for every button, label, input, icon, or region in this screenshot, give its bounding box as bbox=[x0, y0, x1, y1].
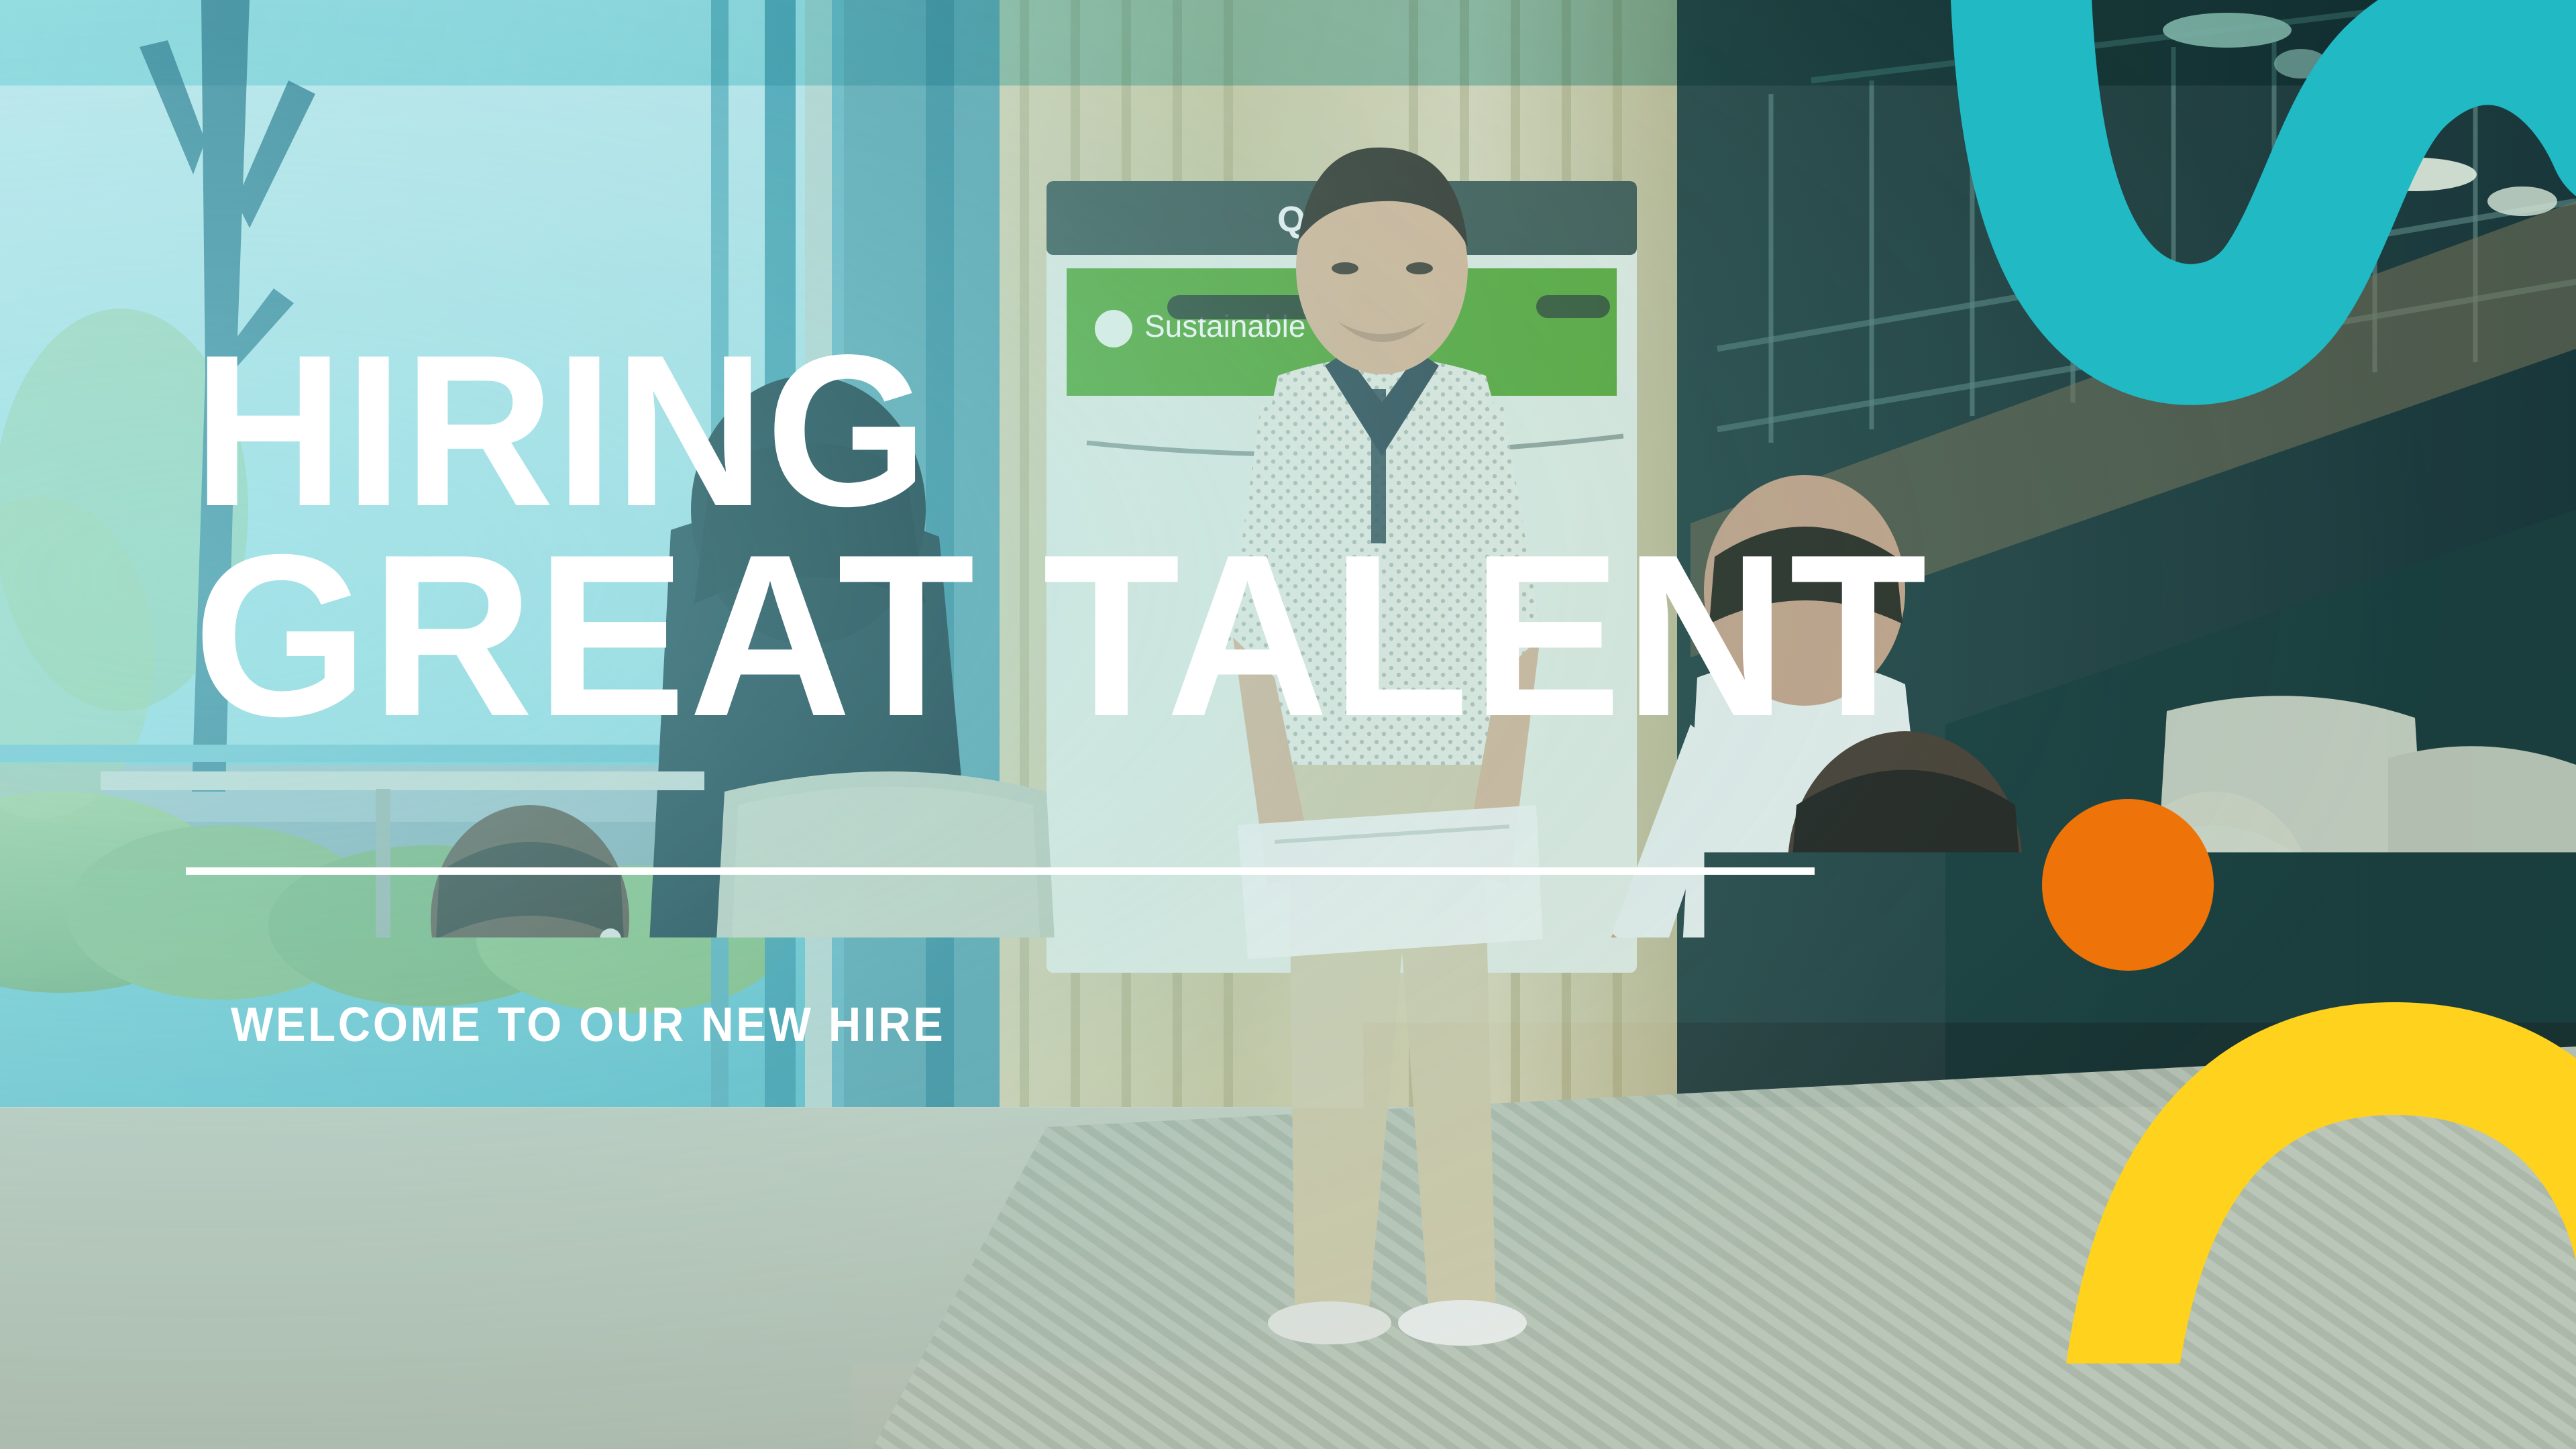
page-title: HIRING GREAT TALENT bbox=[193, 339, 1937, 735]
headline-line-2: GREAT TALENT bbox=[193, 537, 1894, 735]
poster-canvas: Quartet Sustainable Earth bbox=[0, 0, 2576, 1449]
subtitle: WELCOME TO OUR NEW HIRE bbox=[231, 1001, 946, 1049]
divider-rule bbox=[186, 867, 1815, 875]
headline-block: HIRING GREAT TALENT bbox=[193, 339, 1937, 735]
headline-line-1: HIRING bbox=[193, 339, 1876, 525]
